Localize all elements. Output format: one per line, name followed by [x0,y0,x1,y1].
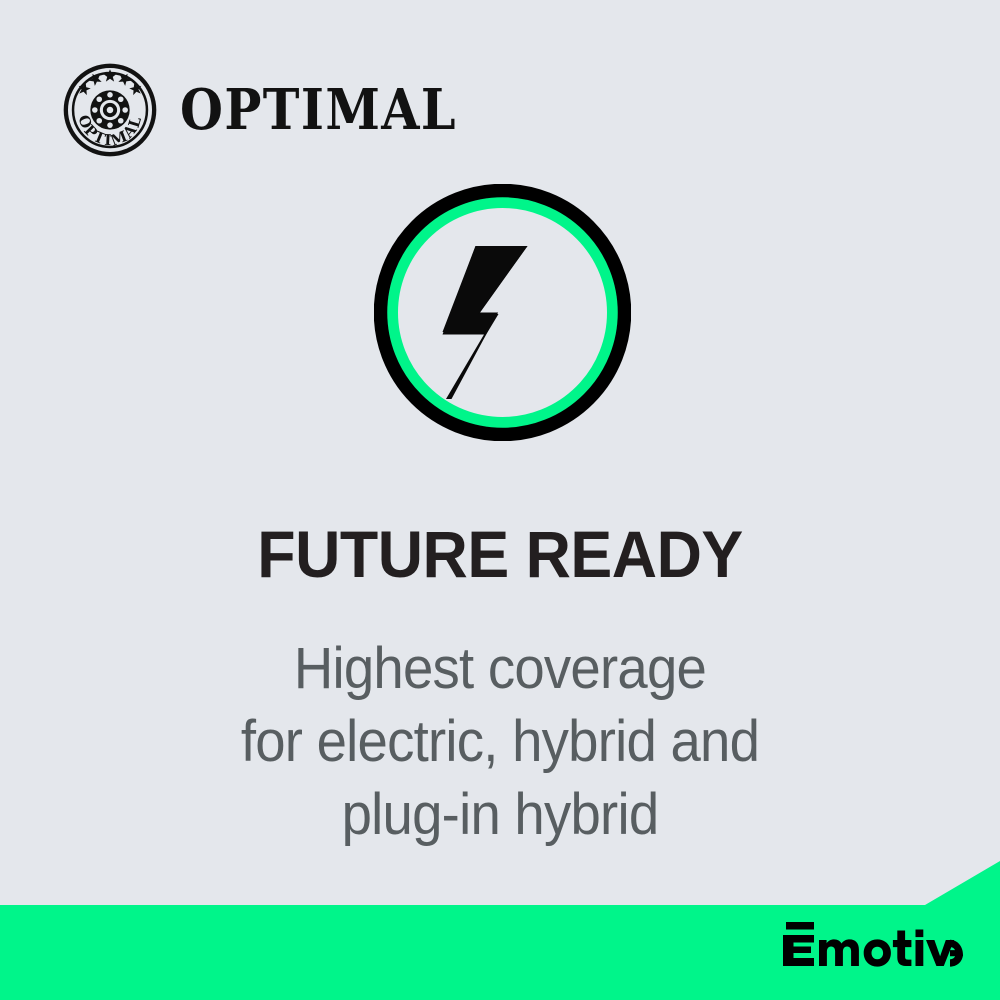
brand-header: OPTIMAL OPTIMAL [62,62,478,158]
page-title: FUTURE READY [25,521,975,587]
emotive-wordmark-logo: Emotive [783,921,963,975]
optimal-bearing-seal-icon: OPTIMAL [62,62,158,158]
optimal-wordmark: OPTIMAL [180,82,457,138]
emotive-wordmark-icon [783,921,963,975]
subtitle-line: Highest coverage [30,632,970,705]
future-ready-hero-icon [374,184,631,441]
subtitle-line: for electric, hybrid and [30,705,970,778]
promo-card: OPTIMAL OPTIMAL [0,0,1000,1000]
subtitle-line: plug-in hybrid [30,778,970,851]
page-subtitle: Highest coverage for electric, hybrid an… [30,632,970,851]
lightning-bolt-in-circle-icon [374,184,631,441]
